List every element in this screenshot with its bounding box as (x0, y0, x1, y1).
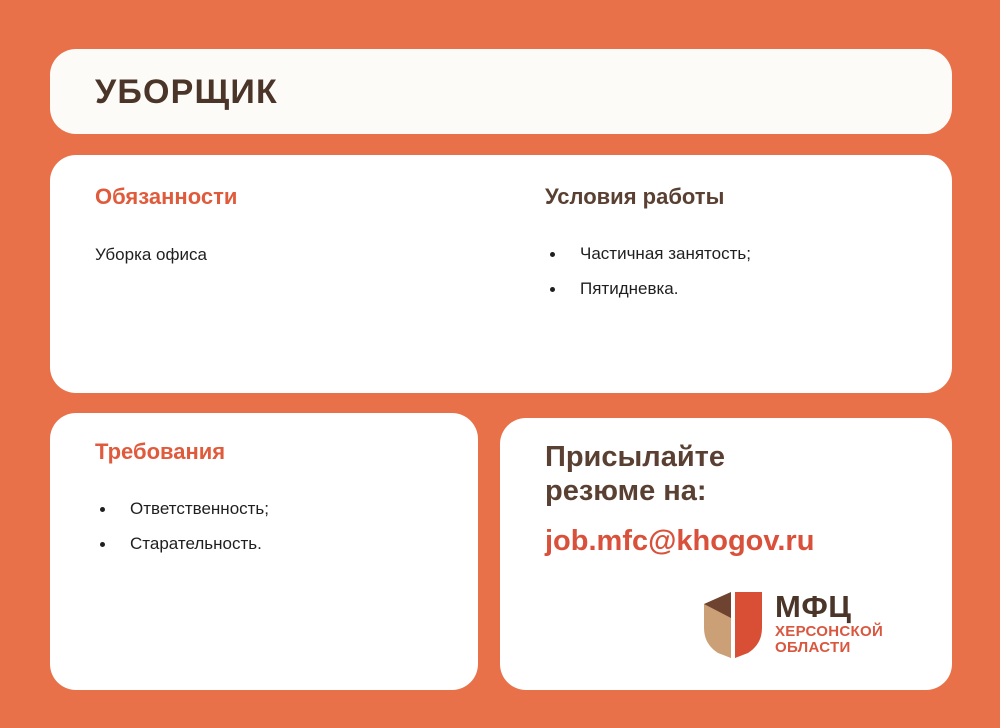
job-posting-poster: УБОРЩИК Обязанности Уборка офиса Условия… (0, 0, 1000, 728)
logo-subtitle-line-1: ХЕРСОНСКОЙ (775, 623, 883, 640)
title-card: УБОРЩИК (50, 49, 952, 134)
contact-section: Присылайте резюме на: job.mfc@khogov.ru (545, 440, 945, 558)
requirements-heading: Требования (95, 440, 455, 464)
contact-lead-line-1: Присылайте (545, 441, 725, 473)
page-title: УБОРЩИК (95, 75, 278, 109)
contact-lead: Присылайте резюме на: (545, 440, 805, 508)
logo-name: МФЦ (775, 592, 883, 621)
logo-wordmark: МФЦ ХЕРСОНСКОЙ ОБЛАСТИ (775, 592, 883, 657)
contact-lead-line-2: резюме на: (545, 475, 707, 507)
duties-body: Уборка офиса (95, 243, 475, 267)
requirements-list: Ответственность; Старательность. (95, 498, 455, 556)
duties-section: Обязанности Уборка офиса (95, 185, 475, 267)
contact-email[interactable]: job.mfc@khogov.ru (545, 526, 945, 558)
conditions-heading: Условия работы (545, 185, 925, 209)
list-item: Ответственность; (95, 498, 455, 521)
conditions-section: Условия работы Частичная занятость; Пяти… (545, 185, 925, 313)
mfc-shield-icon (702, 590, 764, 658)
list-item: Частичная занятость; (545, 243, 925, 266)
logo-subtitle: ХЕРСОНСКОЙ ОБЛАСТИ (775, 624, 883, 656)
conditions-list: Частичная занятость; Пятидневка. (545, 243, 925, 301)
requirements-section: Требования Ответственность; Старательнос… (95, 440, 455, 568)
mfc-logo: МФЦ ХЕРСОНСКОЙ ОБЛАСТИ (702, 588, 917, 660)
logo-subtitle-line-2: ОБЛАСТИ (775, 639, 851, 656)
duties-heading: Обязанности (95, 185, 475, 209)
list-item: Старательность. (95, 533, 455, 556)
list-item: Пятидневка. (545, 278, 925, 301)
